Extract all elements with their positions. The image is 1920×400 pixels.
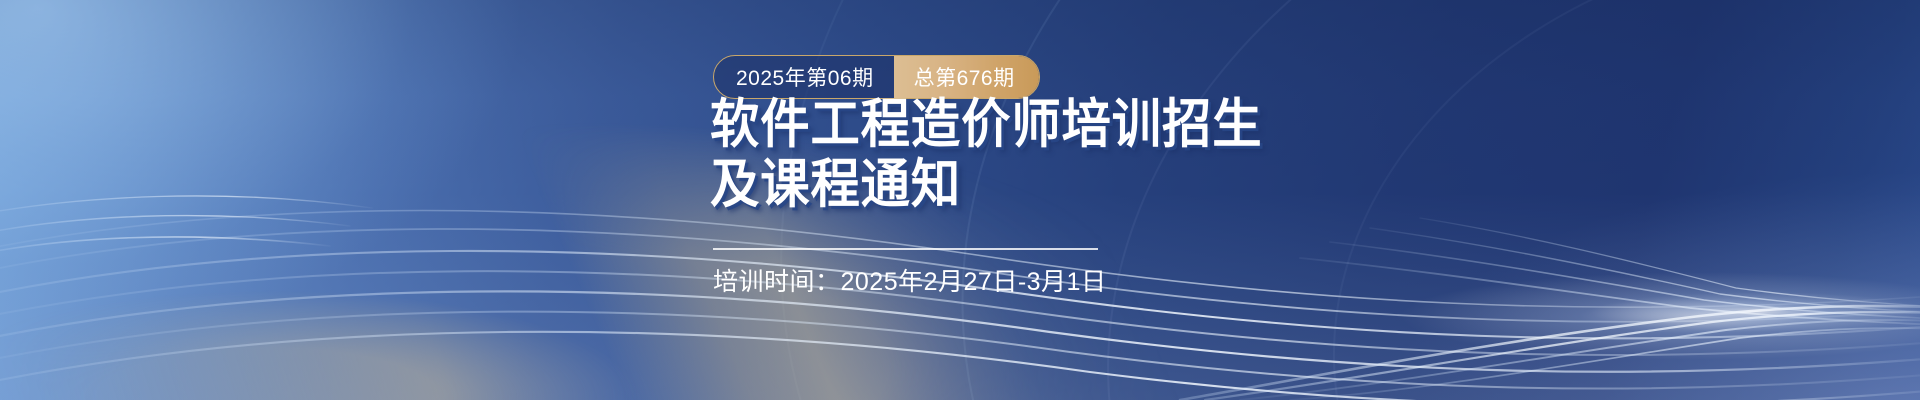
total-issue-number-label: 总第676期: [894, 56, 1039, 98]
banner-content: 2025年第06期 总第676期 软件工程造价师培训招生 及课程通知 培训时间：…: [713, 0, 1613, 400]
issue-badge: 2025年第06期 总第676期: [713, 55, 1040, 99]
promo-banner: 2025年第06期 总第676期 软件工程造价师培训招生 及课程通知 培训时间：…: [0, 0, 1920, 400]
title-line-1: 软件工程造价师培训招生: [710, 96, 1510, 153]
page-title: 软件工程造价师培训招生 及课程通知: [710, 96, 1570, 213]
title-line-2: 及课程通知: [710, 156, 1510, 213]
issue-number-label: 2025年第06期: [714, 56, 894, 98]
title-divider: [713, 248, 1098, 250]
training-schedule-text: 培训时间：2025年2月27日-3月1日: [713, 262, 1106, 298]
